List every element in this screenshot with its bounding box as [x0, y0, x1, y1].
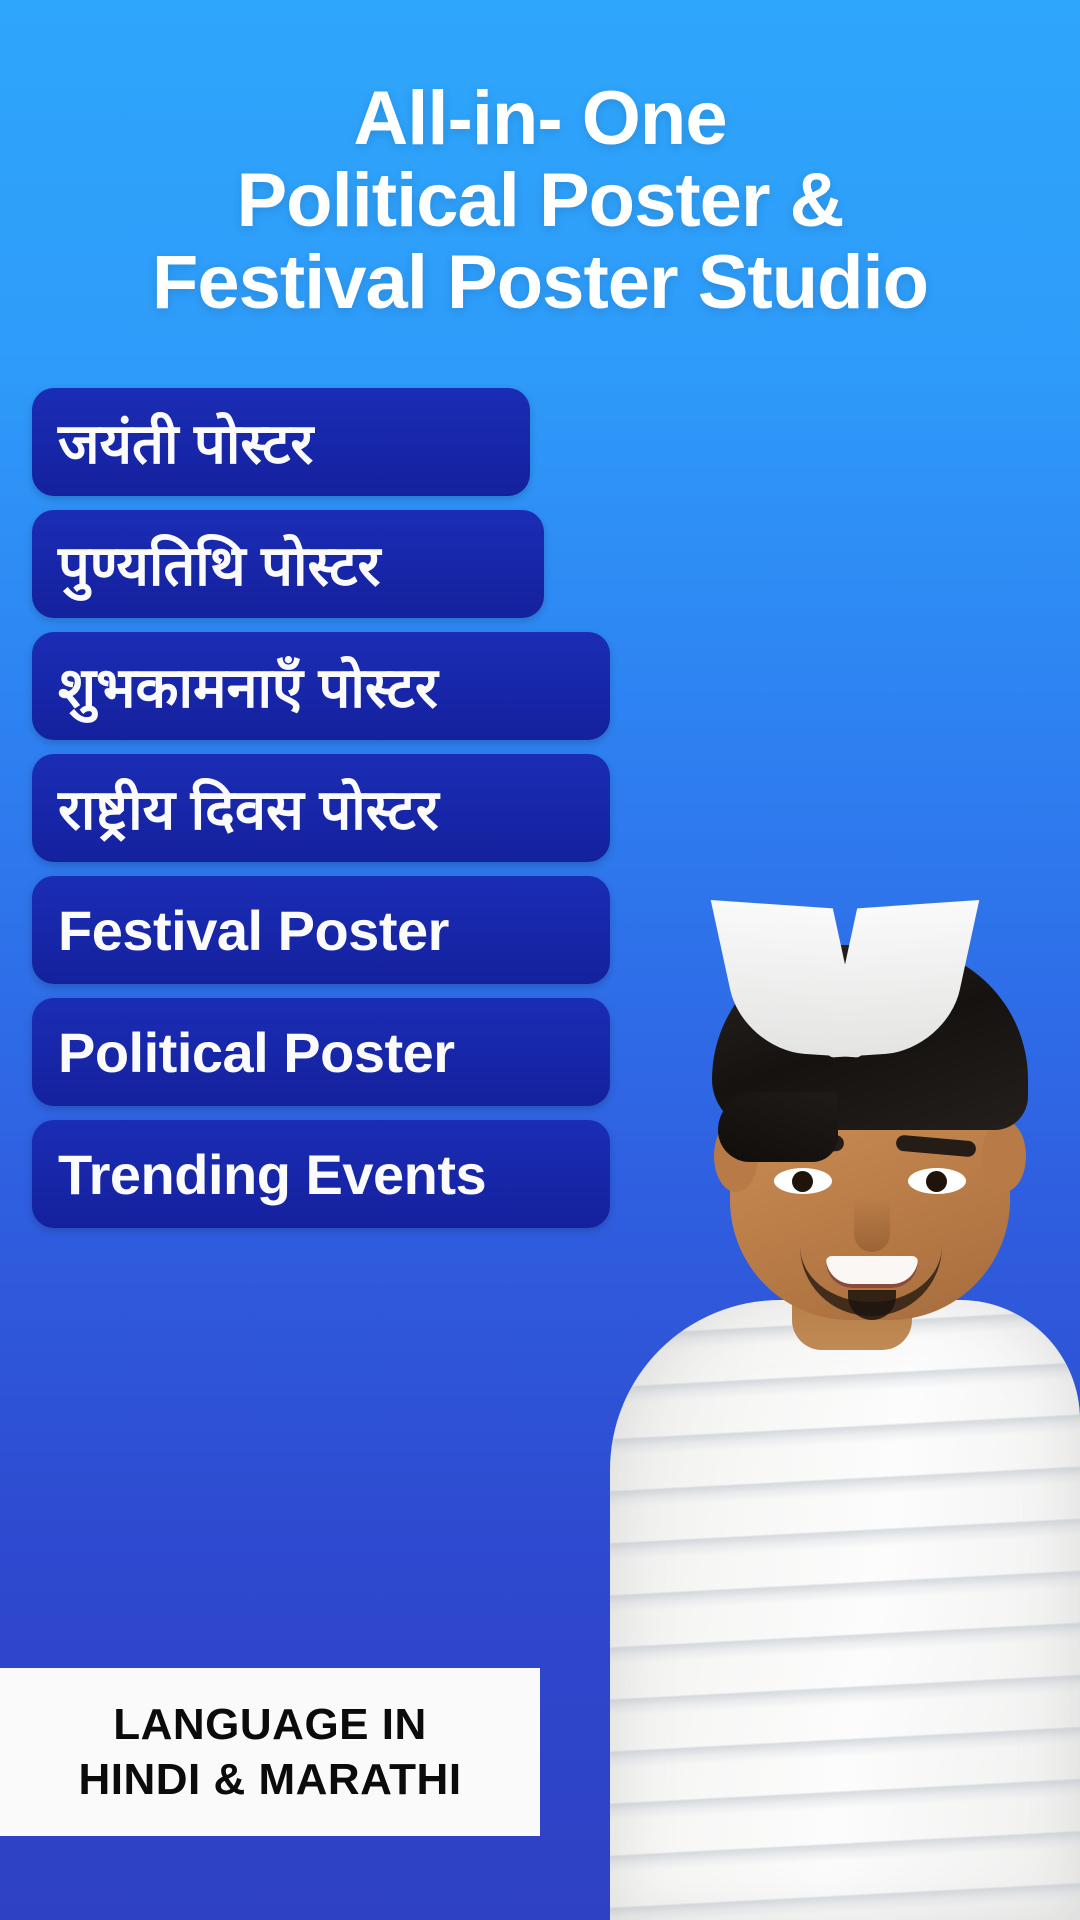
- ear-right-icon: [982, 1120, 1026, 1192]
- eye-right: [908, 1168, 966, 1194]
- beard: [800, 1236, 942, 1316]
- menu-button-shubhkamnaye-poster[interactable]: शुभकामनाएँ पोस्टर: [32, 632, 610, 740]
- promo-poster: All-in- One Political Poster & Festival …: [0, 0, 1080, 1920]
- category-menu: जयंती पोस्टर पुण्यतिथि पोस्टर शुभकामनाएँ…: [32, 388, 610, 1242]
- menu-button-rashtriya-divas-poster[interactable]: राष्ट्रीय दिवस पोस्टर: [32, 754, 610, 862]
- goatee: [848, 1290, 896, 1320]
- headline-line-1: All-in- One: [0, 78, 1080, 160]
- eyebrow-left: [763, 1135, 844, 1158]
- headline-line-3: Festival Poster Studio: [0, 242, 1080, 324]
- eyebrow-right: [895, 1135, 976, 1158]
- headline-line-2: Political Poster &: [0, 160, 1080, 242]
- mouth: [826, 1256, 918, 1288]
- hair: [712, 945, 1028, 1130]
- nose: [854, 1198, 890, 1252]
- eye-left: [774, 1168, 832, 1194]
- menu-button-political-poster[interactable]: Political Poster: [32, 998, 610, 1106]
- language-banner-line-1: LANGUAGE IN: [113, 1697, 427, 1752]
- menu-button-trending-events[interactable]: Trending Events: [32, 1120, 610, 1228]
- page-title: All-in- One Political Poster & Festival …: [0, 78, 1080, 324]
- menu-button-jayanti-poster[interactable]: जयंती पोस्टर: [32, 388, 530, 496]
- collar-left: [711, 900, 866, 1058]
- language-banner-line-2: HINDI & MARATHI: [78, 1752, 461, 1807]
- face: [730, 970, 1010, 1320]
- menu-button-festival-poster[interactable]: Festival Poster: [32, 876, 610, 984]
- neck: [792, 1220, 912, 1350]
- menu-button-punyatithi-poster[interactable]: पुण्यतिथि पोस्टर: [32, 510, 544, 618]
- person-photo: [580, 910, 1080, 1920]
- collar-right: [825, 900, 980, 1058]
- ear-left-icon: [714, 1120, 758, 1192]
- shirt: [610, 1300, 1080, 1920]
- language-banner: LANGUAGE IN HINDI & MARATHI: [0, 1668, 540, 1836]
